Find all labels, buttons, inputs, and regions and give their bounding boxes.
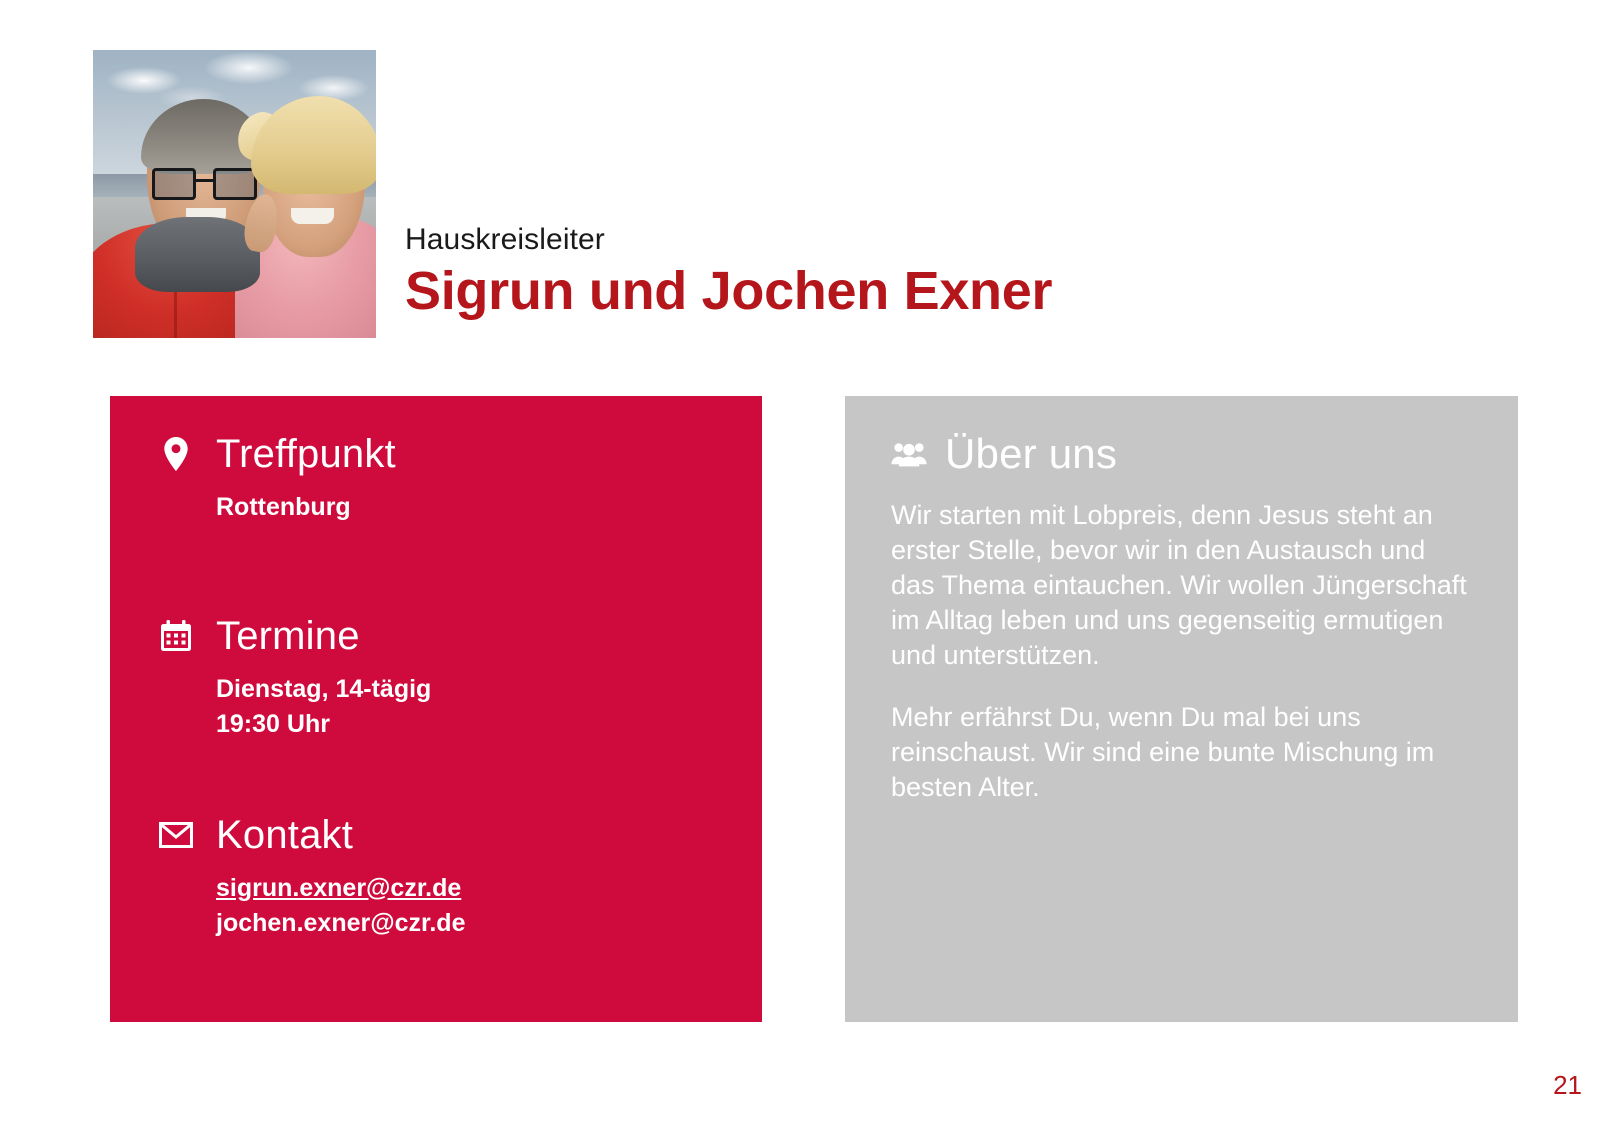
section-termine: Termine Dienstag, 14-tägig 19:30 Uhr (158, 614, 722, 743)
photo-person-left-scarf (135, 217, 260, 292)
section-kontakt: Kontakt sigrun.exner@czr.de jochen.exner… (158, 813, 722, 942)
info-card-gray: Über uns Wir starten mit Lobpreis, denn … (845, 396, 1518, 1022)
glasses-bridge (196, 179, 213, 182)
photo-glasses-icon (152, 168, 257, 200)
slide-header: Hauskreisleiter Sigrun und Jochen Exner (0, 0, 1624, 380)
location-pin-icon (158, 435, 194, 473)
glasses-lens-left (152, 168, 196, 200)
section-treffpunkt: Treffpunkt Rottenburg (158, 432, 722, 526)
section-kontakt-body: sigrun.exner@czr.de jochen.exner@czr.de (216, 871, 722, 942)
section-kontakt-title: Kontakt (216, 813, 353, 857)
page-title: Sigrun und Jochen Exner (405, 262, 1052, 321)
email-text-jochen: jochen.exner@czr.de (216, 906, 722, 942)
email-link-sigrun[interactable]: sigrun.exner@czr.de (216, 871, 722, 907)
section-termine-head: Termine (158, 614, 722, 658)
termine-time: 19:30 Uhr (216, 707, 722, 743)
spacer-2 (158, 743, 722, 813)
leader-photo (93, 50, 376, 338)
page-number: 21 (1553, 1070, 1582, 1101)
glasses-lens-right (213, 168, 257, 200)
section-termine-body: Dienstag, 14-tägig 19:30 Uhr (216, 672, 722, 743)
treffpunkt-location: Rottenburg (216, 490, 722, 526)
spacer-1 (158, 526, 722, 614)
users-group-icon (891, 435, 927, 473)
section-treffpunkt-body: Rottenburg (216, 490, 722, 526)
section-ueber-uns-title: Über uns (945, 432, 1117, 476)
about-paragraph-1: Wir starten mit Lobpreis, denn Jesus ste… (891, 498, 1474, 673)
about-paragraph-2: Mehr erfährst Du, wenn Du mal bei uns re… (891, 700, 1474, 805)
section-treffpunkt-head: Treffpunkt (158, 432, 722, 476)
title-block: Hauskreisleiter Sigrun und Jochen Exner (405, 222, 1052, 321)
section-treffpunkt-title: Treffpunkt (216, 432, 396, 476)
info-card-red: Treffpunkt Rottenburg (110, 396, 762, 1022)
photo-person-right-smile (291, 208, 333, 224)
section-ueber-uns-head: Über uns (891, 432, 1474, 476)
photo-canvas (93, 50, 376, 338)
role-label: Hauskreisleiter (405, 222, 1052, 258)
termine-day: Dienstag, 14-tägig (216, 672, 722, 708)
section-termine-title: Termine (216, 614, 360, 658)
section-kontakt-head: Kontakt (158, 813, 722, 857)
calendar-icon (158, 617, 194, 655)
envelope-icon (158, 816, 194, 854)
